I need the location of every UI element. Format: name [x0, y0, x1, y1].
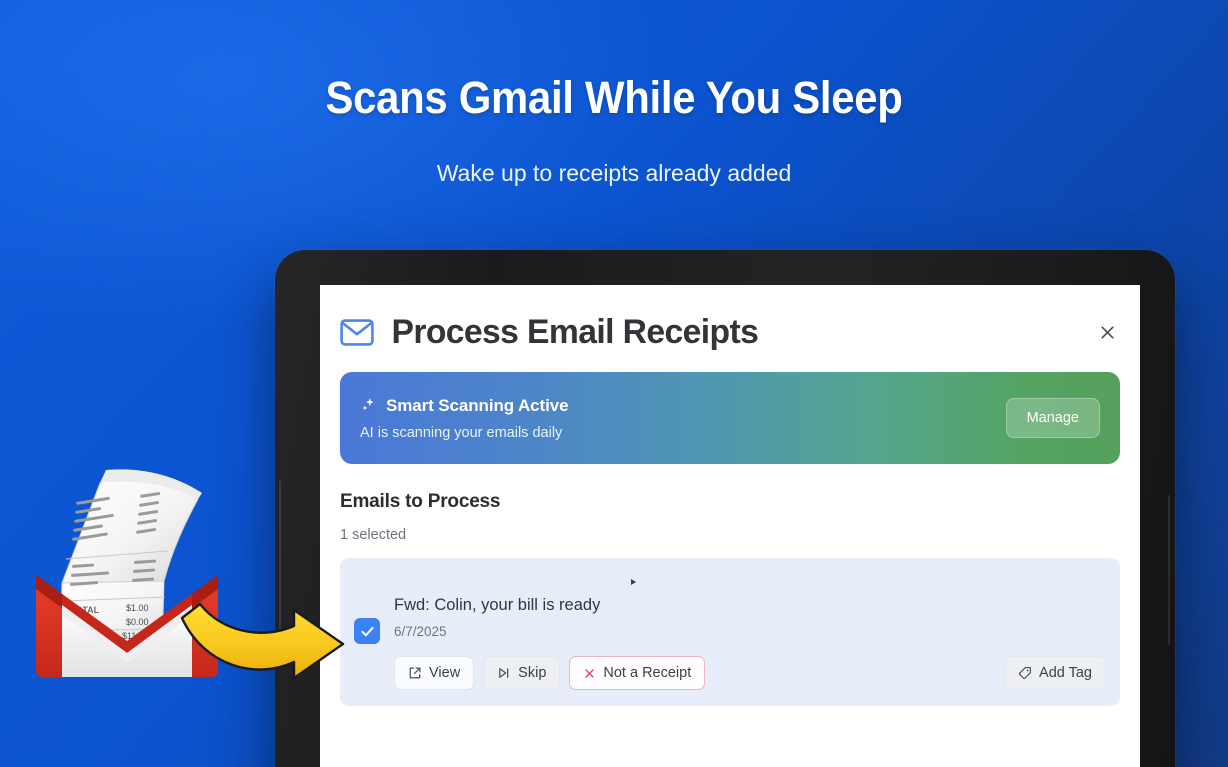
- external-link-icon: [408, 666, 422, 680]
- tablet-device-frame: Process Email Receipts: [275, 250, 1175, 767]
- skip-button-label: Skip: [518, 665, 546, 681]
- email-subject: Fwd: Colin, your bill is ready: [394, 596, 1106, 615]
- svg-text:$0.00: $0.00: [126, 617, 149, 627]
- skip-forward-icon: [497, 666, 511, 680]
- hero-section: Scans Gmail While You Sleep Wake up to r…: [0, 74, 1228, 187]
- modal-title: Process Email Receipts: [391, 313, 1076, 352]
- banner-title: Smart Scanning Active: [386, 396, 568, 416]
- add-tag-label: Add Tag: [1039, 665, 1092, 681]
- email-list-item[interactable]: Fwd: Colin, your bill is ready 6/7/2025: [340, 558, 1120, 706]
- not-a-receipt-button[interactable]: Not a Receipt: [569, 656, 705, 690]
- view-button[interactable]: View: [394, 656, 474, 690]
- tag-icon: [1018, 666, 1032, 680]
- banner-text-group: Smart Scanning Active AI is scanning you…: [360, 396, 1006, 441]
- svg-text:$1.00: $1.00: [126, 603, 149, 613]
- modal-header: Process Email Receipts: [340, 309, 1120, 352]
- view-button-label: View: [429, 665, 460, 681]
- email-actions: View Skip: [394, 656, 1106, 690]
- skip-button[interactable]: Skip: [483, 656, 560, 690]
- email-checkbox[interactable]: [354, 618, 380, 644]
- tablet-screen: Process Email Receipts: [320, 285, 1140, 767]
- curved-arrow-icon: [178, 592, 348, 682]
- smart-scanning-banner: Smart Scanning Active AI is scanning you…: [340, 372, 1120, 464]
- sparkles-icon: [360, 397, 377, 414]
- banner-subtitle: AI is scanning your emails daily: [360, 425, 1006, 441]
- page-subheadline: Wake up to receipts already added: [0, 160, 1228, 187]
- x-icon: [583, 667, 596, 680]
- selected-count-label: 1 selected: [340, 527, 1120, 543]
- chevron-right-icon: [631, 579, 636, 585]
- email-date: 6/7/2025: [394, 624, 1106, 639]
- banner-title-row: Smart Scanning Active: [360, 396, 1006, 416]
- email-details: Fwd: Colin, your bill is ready 6/7/2025: [394, 596, 1106, 690]
- email-row: Fwd: Colin, your bill is ready 6/7/2025: [354, 570, 1106, 690]
- add-tag-button[interactable]: Add Tag: [1004, 656, 1106, 690]
- emails-section-title: Emails to Process: [340, 491, 1120, 513]
- close-icon[interactable]: [1094, 320, 1120, 346]
- page-headline: Scans Gmail While You Sleep: [43, 74, 1185, 122]
- not-a-receipt-label: Not a Receipt: [603, 665, 691, 681]
- process-email-receipts-modal: Process Email Receipts: [320, 285, 1140, 706]
- mail-icon: [340, 319, 374, 346]
- manage-button[interactable]: Manage: [1006, 398, 1100, 438]
